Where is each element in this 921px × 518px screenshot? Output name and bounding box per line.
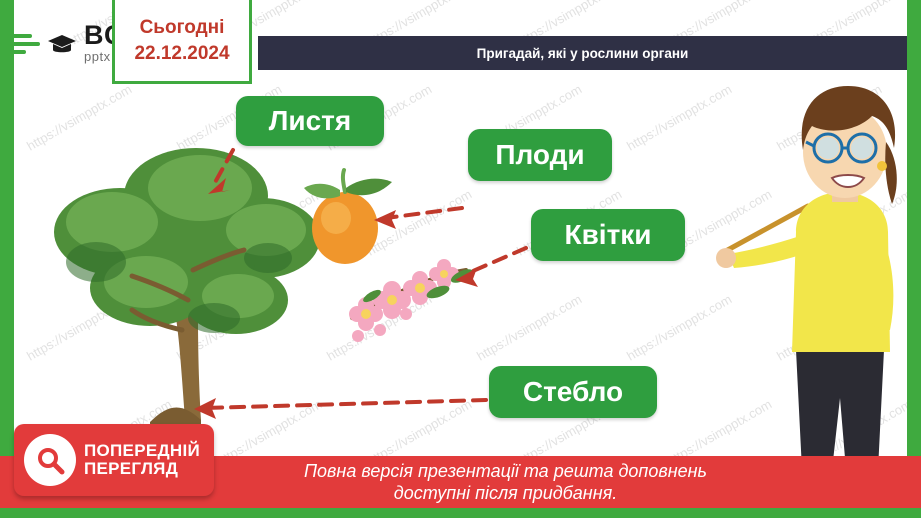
date-value: 22.12.2024 [134,43,229,65]
arrow-stem [206,400,486,408]
label-stem[interactable]: Стебло [489,366,657,418]
preview-button-label: ПОПЕРЕДНІЙ ПЕРЕГЛЯД [84,442,200,478]
preview-line-1: ПОПЕРЕДНІЙ [84,441,200,460]
logo-sub: pptx [84,49,111,64]
tree-illustration [54,148,320,424]
header: BCIM pptx Сьогодні 22.12.2024 Пригадай, … [0,0,921,88]
footer-message: Повна версія презентації та решта доповн… [304,460,707,505]
date-badge: Сьогодні 22.12.2024 [112,0,252,84]
preview-button[interactable]: ПОПЕРЕДНІЙ ПЕРЕГЛЯД [14,424,214,496]
search-icon [24,434,76,486]
slide-title-bar: Пригадай, які у рослини органи [258,36,907,70]
label-leaves[interactable]: Листя [236,96,384,146]
label-fruits[interactable]: Плоди [468,129,612,181]
footer-line-1: Повна версія презентації та решта доповн… [304,461,707,481]
teacher-illustration [716,86,897,470]
preview-line-2: ПЕРЕГЛЯД [84,459,178,478]
date-label: Сьогодні [140,17,225,39]
page-title: Пригадай, які у рослини органи [477,46,689,61]
logo-lines-icon [10,34,40,54]
border-bottom [0,508,921,518]
flowers-illustration [349,259,475,342]
arrow-fruits [386,208,462,218]
label-flowers[interactable]: Квітки [531,209,685,261]
slide: https://vsimpptx.com https://vsimpptx.co… [0,0,921,518]
footer-line-2: доступні після придбання. [394,483,617,503]
graduation-cap-icon [47,33,77,55]
